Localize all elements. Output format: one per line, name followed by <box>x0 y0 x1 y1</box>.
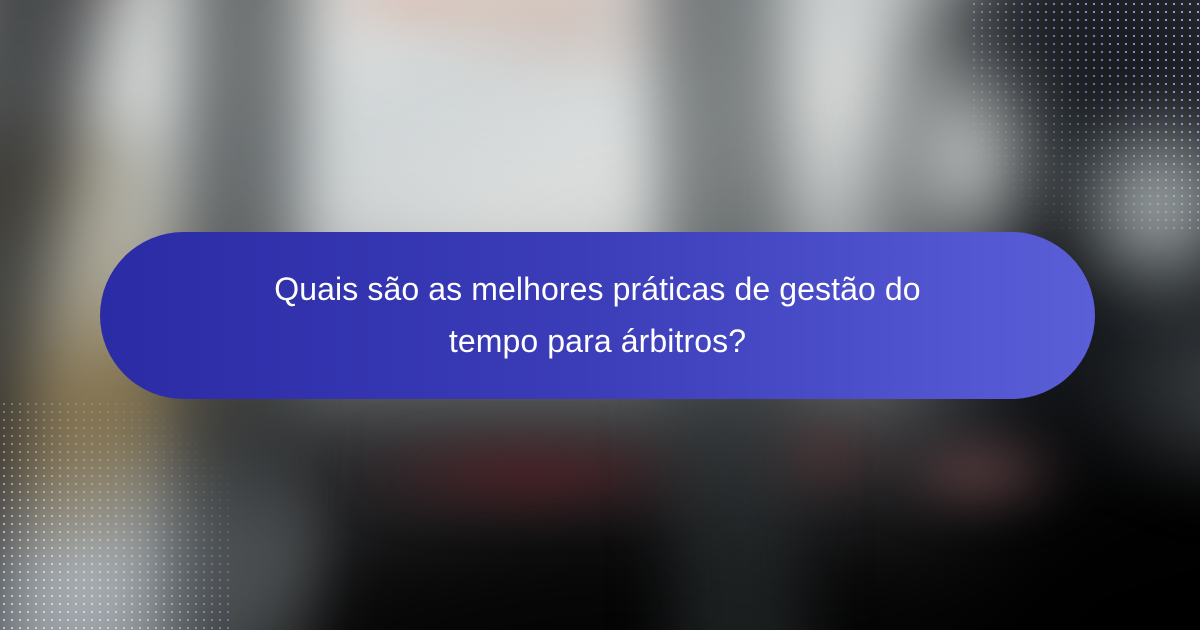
question-banner: Quais são as melhores práticas de gestão… <box>100 232 1095 399</box>
dot-grid-top-right-icon <box>970 0 1200 230</box>
question-title: Quais são as melhores práticas de gestão… <box>274 264 920 368</box>
og-card: Quais são as melhores práticas de gestão… <box>0 0 1200 630</box>
dot-grid-bottom-left-icon <box>0 400 230 630</box>
